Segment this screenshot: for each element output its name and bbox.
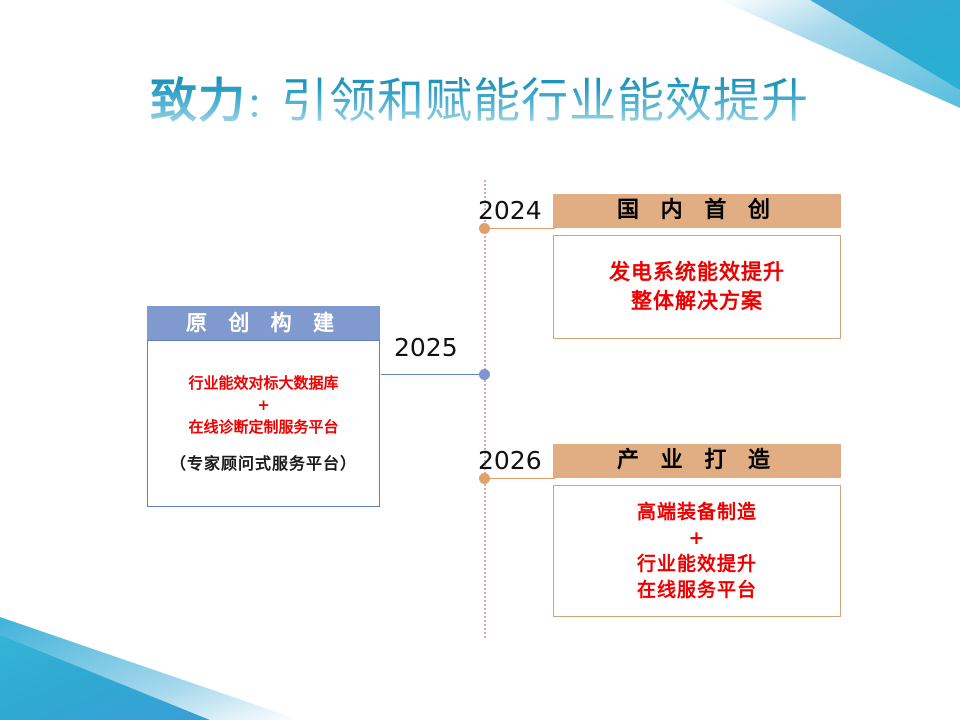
- card-note: （专家顾问式服务平台）: [170, 452, 357, 476]
- card-line: 整体解决方案: [631, 287, 763, 316]
- card-line: 高端装备制造: [637, 499, 757, 525]
- slide-canvas: 致力：引领和赋能行业能效提升 2024 2025 2026 原 创 构 建 行业…: [0, 0, 960, 720]
- page-title-rest: 引领和赋能行业能效提升: [281, 74, 809, 129]
- card-line: 发电系统能效提升: [609, 258, 785, 287]
- card-domestic-first-header: 国 内 首 创: [553, 194, 841, 228]
- card-line: +: [257, 394, 270, 416]
- card-domestic-first-body: 发电系统能效提升 整体解决方案: [553, 235, 841, 339]
- card-industry-building-header: 产 业 打 造: [553, 444, 841, 478]
- page-title-separator: ：: [246, 86, 281, 126]
- diagonal-ribbon-decoration-bottom-left: [0, 595, 300, 720]
- card-line: 行业能效提升: [637, 551, 757, 577]
- connector-line-2024: [485, 228, 555, 229]
- card-domestic-first: 国 内 首 创 发电系统能效提升 整体解决方案: [553, 194, 841, 339]
- card-industry-building-body: 高端装备制造 + 行业能效提升 在线服务平台: [553, 485, 841, 617]
- card-original-construction-header: 原 创 构 建: [147, 306, 380, 340]
- connector-line-2026: [485, 478, 555, 479]
- card-original-construction-body: 行业能效对标大数据库 + 在线诊断定制服务平台 （专家顾问式服务平台）: [147, 340, 380, 507]
- page-title: 致力：引领和赋能行业能效提升: [150, 72, 830, 134]
- year-label-2026: 2026: [478, 446, 542, 475]
- year-label-2024: 2024: [478, 196, 542, 225]
- card-line: 行业能效对标大数据库: [188, 372, 338, 394]
- connector-line-2025: [381, 374, 485, 375]
- card-original-construction: 原 创 构 建 行业能效对标大数据库 + 在线诊断定制服务平台 （专家顾问式服务…: [147, 306, 380, 507]
- card-line: +: [689, 525, 706, 551]
- timeline-axis: [484, 180, 486, 638]
- timeline-dot-2025: [479, 369, 490, 380]
- card-line: 在线诊断定制服务平台: [188, 416, 338, 438]
- card-industry-building: 产 业 打 造 高端装备制造 + 行业能效提升 在线服务平台: [553, 444, 841, 617]
- card-line: 在线服务平台: [637, 577, 757, 603]
- page-title-main: 致力: [150, 74, 246, 129]
- year-label-2025: 2025: [394, 333, 458, 362]
